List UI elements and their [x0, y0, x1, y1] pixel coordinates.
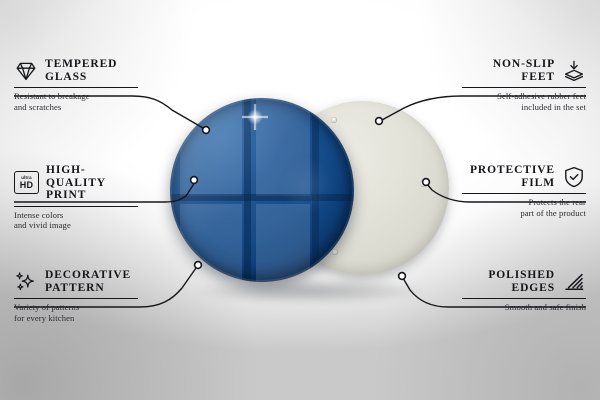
feature-description: Smooth and safe finish: [462, 302, 586, 313]
ultra-hd-icon: ultra HD: [14, 171, 39, 194]
feature-title-line2: PRINT: [46, 189, 138, 202]
sparkles-icon: [14, 270, 38, 294]
feature-title-line2: EDGES: [488, 282, 555, 295]
feature-title-line2: PATTERN: [45, 282, 131, 295]
feature-title-line2: FILM: [470, 177, 555, 190]
feature-title: PROTECTIVE FILM: [470, 164, 555, 189]
front-disc: [170, 98, 354, 282]
feature-description: Self-adhesive rubber feet included in th…: [462, 91, 586, 112]
diamond-icon: [14, 59, 38, 83]
feature-description: Resistant to breakage and scratches: [14, 91, 138, 112]
feature-title-line2: FEET: [493, 71, 555, 84]
polished-edges-icon: [562, 270, 586, 294]
feature-title-line1: PROTECTIVE: [470, 164, 555, 177]
feature-description: Variety of patterns for every kitchen: [14, 302, 138, 323]
feature-divider: [14, 87, 138, 88]
feature-title-line1: NON-SLIP: [493, 58, 555, 71]
feature-non-slip-feet: NON-SLIP FEET Self-adhesive rubber feet …: [462, 58, 586, 112]
feature-divider: [14, 298, 138, 299]
feature-title-line2: GLASS: [45, 71, 117, 84]
feature-description: Protects the rear part of the product: [462, 197, 586, 218]
shield-check-icon: [562, 165, 586, 189]
feature-title-line1: POLISHED: [488, 269, 555, 282]
infographic-canvas: TEMPERED GLASS Resistant to breakage and…: [0, 0, 600, 400]
feature-decorative-pattern: DECORATIVE PATTERN Variety of patterns f…: [14, 269, 138, 323]
rubber-foot: [420, 181, 426, 187]
feature-tempered-glass: TEMPERED GLASS Resistant to breakage and…: [14, 58, 138, 112]
feature-title: DECORATIVE PATTERN: [45, 269, 131, 294]
hd-label: HD: [20, 181, 34, 190]
feature-title: NON-SLIP FEET: [493, 58, 555, 83]
feature-polished-edges: POLISHED EDGES Smooth and safe finish: [462, 269, 586, 313]
feature-title-line1: HIGH-QUALITY: [46, 164, 138, 189]
feature-protective-film: PROTECTIVE FILM Protects the rear part o…: [462, 164, 586, 218]
feature-title: TEMPERED GLASS: [45, 58, 117, 83]
feature-description: Intense colors and vivid image: [14, 210, 138, 231]
feature-divider: [462, 87, 586, 88]
feature-title: HIGH-QUALITY PRINT: [46, 164, 138, 202]
feature-title-line1: TEMPERED: [45, 58, 117, 71]
feature-title: POLISHED EDGES: [488, 269, 555, 294]
feature-high-quality-print: ultra HD HIGH-QUALITY PRINT Intense colo…: [14, 164, 138, 231]
non-slip-feet-icon: [562, 59, 586, 83]
glass-edge: [170, 98, 354, 282]
feature-divider: [462, 193, 586, 194]
feature-title-line1: DECORATIVE: [45, 269, 131, 282]
feature-divider: [14, 206, 138, 207]
feature-divider: [462, 298, 586, 299]
